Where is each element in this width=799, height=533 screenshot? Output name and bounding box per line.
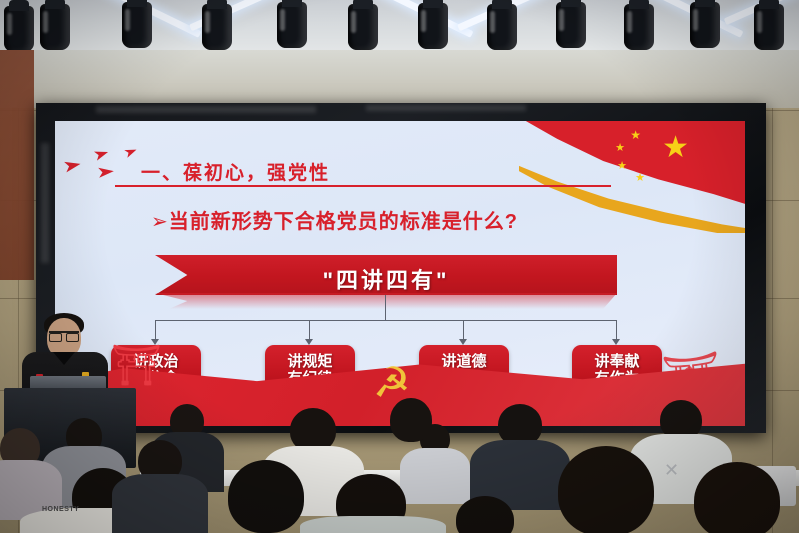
connector-bus — [155, 320, 617, 321]
flag-star-4: ★ — [635, 173, 645, 184]
dove-icon-3: ➤ — [96, 164, 116, 182]
stage-light-9 — [624, 4, 654, 50]
principle-box-4-line1: 讲奉献 — [594, 354, 639, 371]
stage-light-11 — [754, 4, 784, 50]
shirt-text-honesty: HONESTY — [42, 506, 79, 513]
stage-light-4 — [277, 2, 307, 48]
flag-star-3: ★ — [617, 161, 627, 172]
stage-light-1 — [40, 4, 70, 50]
banner-shadow — [155, 293, 617, 309]
stage-light-10 — [690, 2, 720, 48]
connector-drop-2 — [309, 320, 310, 341]
glasses-icon — [49, 331, 79, 338]
stage-light-12 — [4, 6, 34, 52]
slide-section-title: 一、葆初心，强党性 — [141, 158, 330, 185]
flying-doves-icon: ➤ — [61, 155, 83, 176]
lecture-hall-scene: ★ ★ ★ ★ ★ ➤ ➤ ➤ ➤ 一、葆初心，强党性 ➢当前新形势下合格党员的… — [0, 0, 799, 533]
connector-stem — [385, 295, 386, 321]
title-underline — [115, 185, 611, 187]
dove-icon-4: ➤ — [121, 143, 139, 160]
connector-drop-3 — [463, 320, 464, 341]
wall-left-red-panel — [0, 50, 34, 280]
stage-light-3 — [202, 4, 232, 50]
slide-question: ➢当前新形势下合格党员的标准是什么? — [151, 205, 518, 234]
presentation-slide: ★ ★ ★ ★ ★ ➤ ➤ ➤ ➤ 一、葆初心，强党性 ➢当前新形势下合格党员的… — [55, 121, 745, 426]
tiananmen-gate-icon: ⛩ — [111, 346, 162, 386]
principle-box-2-line1: 讲规矩 — [287, 354, 332, 371]
stage-light-7 — [487, 4, 517, 50]
stage-light-8 — [556, 2, 586, 48]
connector-drop-4 — [616, 320, 617, 341]
banner-label: "四讲四有" — [155, 263, 617, 295]
wall-upper-strip — [0, 50, 799, 108]
stage-light-2 — [122, 2, 152, 48]
stage-light-6 — [418, 3, 448, 49]
flag-star-2: ★ — [615, 143, 625, 154]
connector-drop-1 — [155, 320, 156, 341]
shirt-graphic-x: ✕ — [664, 460, 680, 481]
dove-icon-2: ➤ — [91, 145, 111, 164]
flag-star-large: ★ — [662, 133, 689, 163]
stage-light-5 — [348, 4, 378, 50]
flag-star-1: ★ — [630, 129, 641, 141]
